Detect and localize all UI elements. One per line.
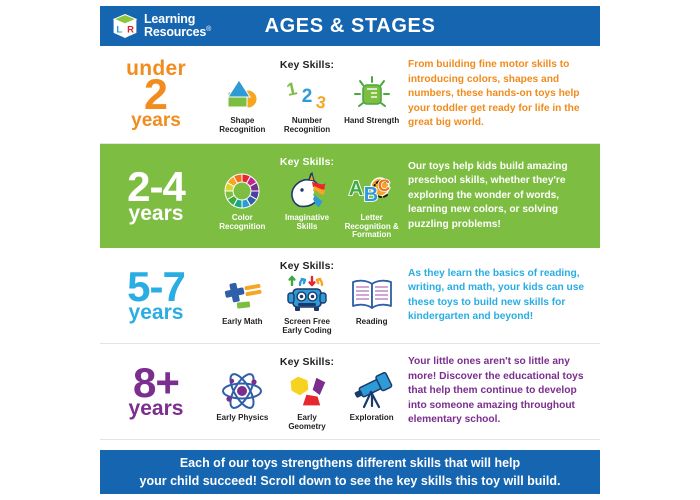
skill-item: Screen FreeEarly Coding	[277, 275, 338, 336]
age-label-8-plus: 8+ years	[100, 366, 212, 418]
infographic-page: L R Learning Resources® AGES & STAGES un…	[0, 0, 700, 500]
age-years-2-4: years	[129, 205, 184, 222]
skill-list-5-7: Early Math	[212, 275, 402, 336]
shapes-icon	[222, 74, 262, 114]
skill-item: Early Math	[212, 275, 273, 327]
skill-item: Early Physics	[212, 371, 273, 423]
key-skills-heading: Key Skills:	[212, 59, 402, 71]
age-row-8-plus: 8+ years Key Skills:	[100, 344, 600, 440]
fist-hand-icon	[352, 74, 392, 114]
skill-label: NumberRecognition	[284, 117, 330, 135]
skill-item: 1 2 3 NumberRecognition	[277, 74, 338, 135]
age-label-5-7: 5-7 years	[100, 270, 212, 322]
age-big-5-7: 5-7	[127, 270, 185, 304]
skill-list-2-4: ColorRecognition Im	[212, 171, 402, 241]
description-block-8-plus: Your little ones aren't so little any mo…	[402, 355, 600, 427]
skill-item: A B C LetterRecognition &Formation	[341, 171, 402, 241]
skills-block-under-2: Key Skills: ShapeRecognition	[212, 55, 402, 135]
footer-banner: Each of our toys strengthens different s…	[100, 450, 600, 494]
footer-line-1: Each of our toys strengthens different s…	[180, 456, 520, 470]
svg-text:2: 2	[302, 86, 313, 107]
skills-block-5-7: Key Skills:	[212, 256, 402, 336]
footer-line-2: your child succeed! Scroll down to see t…	[140, 474, 561, 488]
skill-label: LetterRecognition &Formation	[345, 214, 399, 241]
age-years-8-plus: years	[129, 400, 184, 417]
age-label-2-4: 2-4 years	[100, 170, 212, 222]
key-skills-heading: Key Skills:	[212, 156, 402, 168]
geometry-shapes-icon	[284, 371, 330, 411]
coding-robot-icon	[284, 275, 330, 315]
svg-text:B: B	[363, 184, 377, 206]
atom-icon	[220, 371, 264, 411]
skill-item: ColorRecognition	[212, 171, 273, 232]
description-block-2-4: Our toys help kids build amazing prescho…	[402, 160, 600, 232]
numbers-123-icon: 1 2 3	[286, 74, 328, 114]
svg-text:3: 3	[315, 92, 328, 111]
skill-item: EarlyGeometry	[277, 371, 338, 432]
skill-label: ColorRecognition	[219, 214, 265, 232]
telescope-icon	[349, 371, 395, 411]
skill-item: ImaginativeSkills	[277, 171, 338, 232]
color-wheel-icon	[223, 171, 261, 211]
abc-letters-icon: A B C	[346, 171, 398, 211]
age-row-under-2: under 2 years Key Skills: ShapeRecogniti…	[100, 46, 600, 144]
age-big-8-plus: 8+	[133, 366, 179, 400]
skill-label: Exploration	[350, 414, 394, 423]
skill-list-8-plus: Early Physics EarlyGeometry	[212, 371, 402, 432]
row-description: As they learn the basics of reading, wri…	[408, 267, 586, 325]
math-symbols-icon	[221, 275, 263, 315]
age-row-2-4: 2-4 years Key Skills:	[100, 144, 600, 248]
infographic-sheet: L R Learning Resources® AGES & STAGES un…	[100, 6, 600, 494]
page-title: AGES & STAGES	[100, 15, 600, 38]
skill-item: Exploration	[341, 371, 402, 423]
age-years-under-2: years	[131, 113, 181, 129]
skill-item: Hand Strength	[341, 74, 402, 126]
skill-item: ShapeRecognition	[212, 74, 273, 135]
description-block-under-2: From building fine motor skills to intro…	[402, 58, 600, 130]
row-description: Our toys help kids build amazing prescho…	[408, 160, 586, 232]
row-description: Your little ones aren't so little any mo…	[408, 355, 586, 427]
age-big-2-4: 2-4	[127, 170, 185, 204]
skill-label: EarlyGeometry	[288, 414, 325, 432]
skills-block-2-4: Key Skills:	[212, 152, 402, 241]
svg-text:C: C	[378, 176, 390, 195]
skill-label: ImaginativeSkills	[285, 214, 329, 232]
skill-item: Reading	[341, 275, 402, 327]
skill-label: Early Physics	[216, 414, 268, 423]
skill-label: Screen FreeEarly Coding	[282, 318, 331, 336]
age-label-under-2: under 2 years	[100, 60, 212, 128]
svg-text:A: A	[348, 178, 362, 200]
skill-label: Early Math	[222, 318, 262, 327]
key-skills-heading: Key Skills:	[212, 356, 402, 368]
row-description: From building fine motor skills to intro…	[408, 58, 586, 130]
key-skills-heading: Key Skills:	[212, 260, 402, 272]
skill-label: Hand Strength	[344, 117, 399, 126]
unicorn-icon	[285, 171, 329, 211]
age-years-5-7: years	[129, 304, 184, 321]
skill-label: Reading	[356, 318, 388, 327]
skill-label: ShapeRecognition	[219, 117, 265, 135]
age-row-5-7: 5-7 years Key Skills:	[100, 248, 600, 344]
header-bar: L R Learning Resources® AGES & STAGES	[100, 6, 600, 46]
svg-text:1: 1	[286, 78, 299, 100]
skill-list-under-2: ShapeRecognition 1 2 3 NumberRecognition	[212, 74, 402, 135]
open-book-icon	[349, 275, 395, 315]
description-block-5-7: As they learn the basics of reading, wri…	[402, 267, 600, 325]
skills-block-8-plus: Key Skills:	[212, 352, 402, 432]
age-big-under-2: 2	[144, 78, 168, 113]
